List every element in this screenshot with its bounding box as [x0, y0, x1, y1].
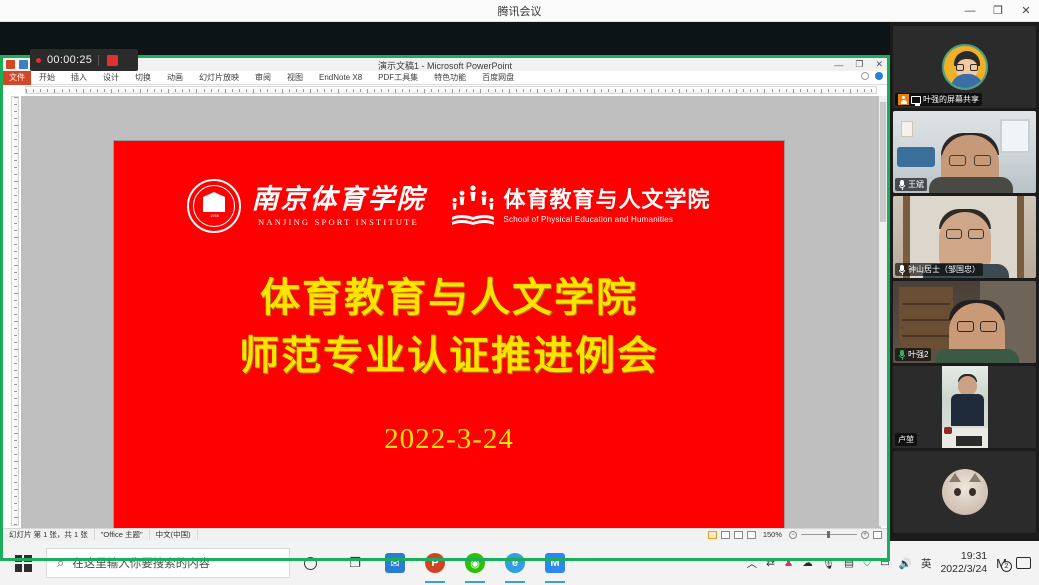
- screen-share-badge-icon: [911, 96, 921, 104]
- avatar: [942, 44, 988, 90]
- network-adapter-icon[interactable]: ⇄: [766, 557, 775, 569]
- mail-icon: ✉: [385, 553, 405, 573]
- vertical-ruler: [11, 96, 19, 526]
- participant-tile-lukun[interactable]: 卢堃: [893, 366, 1036, 448]
- scrollbar-thumb[interactable]: [880, 102, 886, 222]
- windows-logo-icon: [15, 555, 32, 572]
- system-tray[interactable]: ︿ ⇄ ♟ ☁ 🎙 ▤ ⛉ ▭ 🔊 英 19:31 2022/3/24 M 2: [747, 550, 1039, 576]
- participant-tile-yeqiang2[interactable]: 叶强2: [893, 281, 1036, 363]
- tab-review[interactable]: 审阅: [247, 71, 279, 85]
- participant-name: 叶强2: [908, 349, 928, 360]
- language-label[interactable]: 中文(中国): [150, 529, 198, 541]
- tab-featured[interactable]: 特色功能: [426, 71, 474, 85]
- recording-toolbar[interactable]: 00:00:25: [30, 49, 138, 71]
- show-hidden-icons-chevron-icon[interactable]: ︿: [747, 556, 758, 571]
- taskbar-tencent-meeting-button[interactable]: M: [536, 541, 574, 585]
- tab-design[interactable]: 设计: [95, 71, 127, 85]
- tab-animations[interactable]: 动画: [159, 71, 191, 85]
- university-name-cn: 南京体育学院: [251, 186, 425, 213]
- clock-time: 19:31: [940, 550, 987, 563]
- participant-label: 卢堃: [895, 433, 917, 446]
- stop-recording-button[interactable]: [107, 55, 118, 66]
- ppt-help-icons: [861, 72, 883, 80]
- meeting-title-bar: 腾讯会议 — ❐ ✕: [0, 0, 1039, 22]
- tab-transitions[interactable]: 切换: [127, 71, 159, 85]
- cat-avatar: [942, 469, 988, 515]
- zoom-slider[interactable]: [801, 534, 857, 535]
- university-name-en: NANJING SPORT INSTITUTE: [258, 217, 419, 227]
- taskbar-apps[interactable]: ❐ ✉ P ◉ e M: [336, 541, 574, 585]
- nanjing-sport-institute-seal-icon: 1956: [187, 179, 241, 233]
- slide[interactable]: 1956 南京体育学院 NANJING SPORT INSTITUTE: [113, 140, 785, 560]
- ppt-maximize-icon[interactable]: ❐: [855, 59, 863, 70]
- minimize-icon[interactable]: —: [963, 6, 977, 17]
- tab-home[interactable]: 开始: [31, 71, 63, 85]
- close-icon[interactable]: ✕: [1019, 6, 1033, 17]
- shield-icon[interactable]: ⛉: [863, 557, 871, 570]
- taskbar-wechat-button[interactable]: ◉: [456, 541, 494, 585]
- slide-canvas[interactable]: 1956 南京体育学院 NANJING SPORT INSTITUTE: [21, 96, 881, 528]
- recording-elapsed-time: 00:00:25: [47, 54, 92, 66]
- help-icon[interactable]: [875, 72, 883, 80]
- meeting-tray-badge[interactable]: M 2: [996, 556, 1007, 571]
- save-icon[interactable]: [19, 60, 28, 69]
- participant-label: 钟山居士（邹国忠）: [895, 263, 983, 276]
- search-input[interactable]: ⌕ 在这里输入你要搜索的内容: [46, 548, 290, 578]
- slide-sorter-button[interactable]: [721, 531, 730, 539]
- battery-icon[interactable]: ▭: [880, 557, 890, 569]
- task-view-icon: ❐: [345, 553, 365, 573]
- participant-name: 钟山居士（邹国忠）: [908, 264, 980, 275]
- shared-screen-stage: 演示文稿1 - Microsoft PowerPoint — ❐ ✕ 文件 开始…: [0, 22, 890, 541]
- maximize-icon[interactable]: ❐: [991, 6, 1005, 17]
- slide-title-line-2: 师范专业认证推进例会: [114, 327, 784, 385]
- slide-count-label: 幻灯片 第 1 张，共 1 张: [3, 529, 95, 541]
- tencent-meeting-icon: M: [545, 553, 565, 573]
- tab-endnote[interactable]: EndNote X8: [311, 71, 370, 85]
- meeting-window-title: 腾讯会议: [498, 3, 542, 19]
- badge-count: 2: [1001, 561, 1012, 572]
- security-icon[interactable]: ♟: [784, 557, 793, 569]
- note-icon[interactable]: ▤: [844, 557, 854, 569]
- mic-active-icon: [898, 350, 906, 360]
- tab-file[interactable]: 文件: [3, 71, 31, 85]
- participant-name: 卢堃: [898, 434, 914, 445]
- participant-tile-screen-share[interactable]: 叶强的屏幕共享: [893, 26, 1036, 108]
- ppt-ribbon-tabs[interactable]: 文件 开始 插入 设计 切换 动画 幻灯片放映 审阅 视图 EndNote X8…: [3, 71, 887, 85]
- toolbar-divider: [98, 55, 99, 66]
- windows-taskbar[interactable]: ⌕ 在这里输入你要搜索的内容 ❐ ✉ P ◉ e M: [0, 541, 1039, 585]
- participant-label: 叶强2: [895, 348, 931, 361]
- zoom-out-button[interactable]: −: [789, 531, 797, 539]
- participant-name: 王斌: [908, 179, 924, 190]
- school-name-en: School of Physical Education and Humanit…: [503, 215, 710, 224]
- seal-year: 1956: [210, 213, 219, 218]
- slide-date[interactable]: 2022-3-24: [114, 423, 784, 456]
- participants-panel[interactable]: 叶强的屏幕共享 王斌 钟山居士（邹国忠）: [890, 22, 1039, 541]
- zoom-level-label[interactable]: 150%: [760, 530, 785, 539]
- school-name-cn: 体育教育与人文学院: [503, 188, 710, 211]
- clock-date: 2022/3/24: [940, 563, 987, 576]
- powerpoint-app-icon: [6, 60, 15, 69]
- slide-title-line-1: 体育教育与人文学院: [114, 269, 784, 327]
- powerpoint-icon: P: [425, 553, 445, 573]
- slide-logo-band: 1956 南京体育学院 NANJING SPORT INSTITUTE: [114, 179, 784, 233]
- slide-vertical-scrollbar[interactable]: [879, 96, 887, 526]
- chevron-down-icon[interactable]: [861, 72, 869, 80]
- wechat-icon: ◉: [465, 553, 485, 573]
- participant-tile-wangbin[interactable]: 王斌: [893, 111, 1036, 193]
- ppt-minimize-icon[interactable]: —: [834, 60, 843, 70]
- tab-insert[interactable]: 插入: [63, 71, 95, 85]
- ppt-close-icon[interactable]: ✕: [875, 59, 883, 70]
- view-and-zoom-controls[interactable]: 150% − +: [708, 530, 887, 539]
- person-icon: [898, 94, 909, 105]
- zoom-in-button[interactable]: +: [861, 531, 869, 539]
- cloud-icon[interactable]: ☁: [802, 557, 813, 569]
- start-button[interactable]: [0, 541, 46, 585]
- tab-slideshow[interactable]: 幻灯片放映: [191, 71, 247, 85]
- recording-indicator-icon: [36, 58, 41, 63]
- clock[interactable]: 19:31 2022/3/24: [940, 550, 987, 576]
- taskbar-task-view-button[interactable]: ❐: [336, 541, 374, 585]
- ime-indicator[interactable]: 英: [921, 556, 932, 571]
- tab-baidu-netdisk[interactable]: 百度网盘: [474, 71, 522, 85]
- taskbar-powerpoint-button[interactable]: P: [416, 541, 454, 585]
- tab-view[interactable]: 视图: [279, 71, 311, 85]
- meeting-window-controls: — ❐ ✕: [963, 0, 1033, 22]
- volume-icon[interactable]: 🔊: [899, 557, 912, 570]
- action-center-icon[interactable]: [1016, 557, 1031, 569]
- participant-label: 王斌: [895, 178, 927, 191]
- taskbar-mail-button[interactable]: ✉: [376, 541, 414, 585]
- cortana-button[interactable]: [290, 541, 330, 585]
- slide-title[interactable]: 体育教育与人文学院 师范专业认证推进例会: [114, 269, 784, 385]
- participant-name: 叶强的屏幕共享: [923, 94, 979, 105]
- school-emblem-icon: [451, 184, 495, 228]
- participant-label: 叶强的屏幕共享: [895, 93, 982, 106]
- participant-tile-zhongshanjushi[interactable]: 钟山居士（邹国忠）: [893, 196, 1036, 278]
- reading-view-button[interactable]: [734, 531, 743, 539]
- search-icon: ⌕: [57, 555, 64, 571]
- mic-icon: [898, 265, 906, 275]
- taskbar-edge-button[interactable]: e: [496, 541, 534, 585]
- ppt-status-bar: 幻灯片 第 1 张，共 1 张 "Office 主题" 中文(中国) 150% …: [3, 528, 887, 540]
- search-placeholder: 在这里输入你要搜索的内容: [72, 555, 210, 571]
- powerpoint-window: 演示文稿1 - Microsoft PowerPoint — ❐ ✕ 文件 开始…: [3, 58, 887, 540]
- mic-tray-icon[interactable]: 🎙: [822, 557, 835, 570]
- zoom-slider-handle[interactable]: [827, 531, 830, 538]
- cortana-circle-icon: [304, 557, 317, 570]
- ppt-window-controls: — ❐ ✕: [834, 58, 883, 71]
- horizontal-ruler: [25, 86, 877, 94]
- participant-tile-cat-avatar[interactable]: [893, 451, 1036, 533]
- edge-icon: e: [505, 553, 525, 573]
- mic-icon: [898, 180, 906, 190]
- normal-view-button[interactable]: [708, 531, 717, 539]
- theme-label[interactable]: "Office 主题": [95, 529, 150, 541]
- slideshow-button[interactable]: [747, 531, 756, 539]
- fit-slide-to-window-button[interactable]: [873, 531, 882, 539]
- tab-pdf-tools[interactable]: PDF工具集: [370, 71, 426, 85]
